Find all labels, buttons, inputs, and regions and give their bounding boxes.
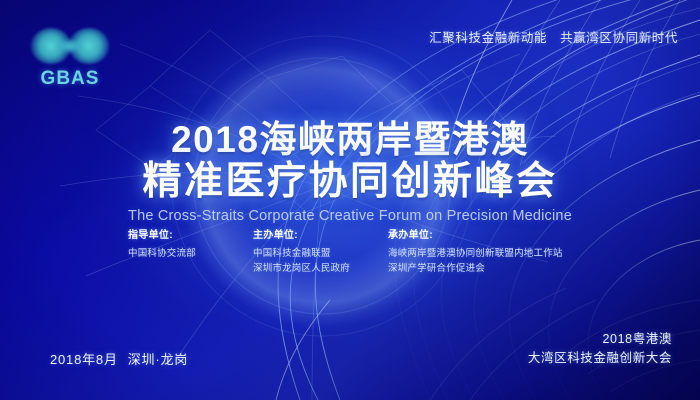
footer-date: 2018年8月 (50, 352, 118, 367)
organizer-item: 深圳市龙岗区人民政府 (253, 261, 388, 276)
footer-event-line-2: 大湾区科技金融创新大会 (528, 349, 672, 368)
title-block: 2018海峡两岸暨港澳 精准医疗协同创新峰会 The Cross-Straits… (0, 119, 700, 224)
footer-event-line-1: 2018粤港澳 (528, 330, 672, 349)
organizer-label: 主办单位: (253, 228, 388, 243)
organizer-item: 中国科技金融联盟 (253, 246, 388, 261)
footer-event-name: 2018粤港澳 大湾区科技金融创新大会 (528, 330, 672, 368)
tagline-part1: 汇聚科技金融新动能 (429, 31, 547, 45)
organizer-column-guidance: 指导单位: 中国科协交流部 (128, 228, 253, 276)
logo-waist (59, 40, 81, 53)
title-line-1: 2018海峡两岸暨港澳 (0, 119, 700, 160)
tagline-part2: 共赢湾区协同新时代 (560, 31, 678, 45)
footer-date-place: 2018年8月深圳·龙岗 (50, 349, 188, 368)
event-poster: GBAS 汇聚科技金融新动能共赢湾区协同新时代 2018海峡两岸暨港澳 精准医疗… (0, 0, 700, 400)
gbas-logo-text: GBAS (33, 68, 107, 90)
organizer-item: 海峡两岸暨港澳协同创新联盟内地工作站 (388, 246, 563, 261)
title-line-2: 精准医疗协同创新峰会 (0, 161, 700, 202)
organizer-item: 中国科协交流部 (128, 246, 253, 261)
organizer-column-host: 主办单位: 中国科技金融联盟 深圳市龙岗区人民政府 (253, 228, 388, 276)
organizer-column-undertaker: 承办单位: 海峡两岸暨港澳协同创新联盟内地工作站 深圳产学研合作促进会 (388, 228, 563, 276)
organizers-row: 指导单位: 中国科协交流部 主办单位: 中国科技金融联盟 深圳市龙岗区人民政府 … (128, 228, 580, 276)
organizer-item: 深圳产学研合作促进会 (388, 261, 563, 276)
organizer-label: 承办单位: (388, 228, 563, 243)
gbas-bowtie-icon (33, 26, 107, 66)
organizer-label: 指导单位: (128, 228, 253, 243)
gbas-logo: GBAS (33, 26, 111, 90)
footer-place: 深圳·龙岗 (128, 352, 188, 367)
tagline: 汇聚科技金融新动能共赢湾区协同新时代 (429, 27, 678, 46)
subtitle-english: The Cross-Straits Corporate Creative For… (0, 208, 700, 224)
